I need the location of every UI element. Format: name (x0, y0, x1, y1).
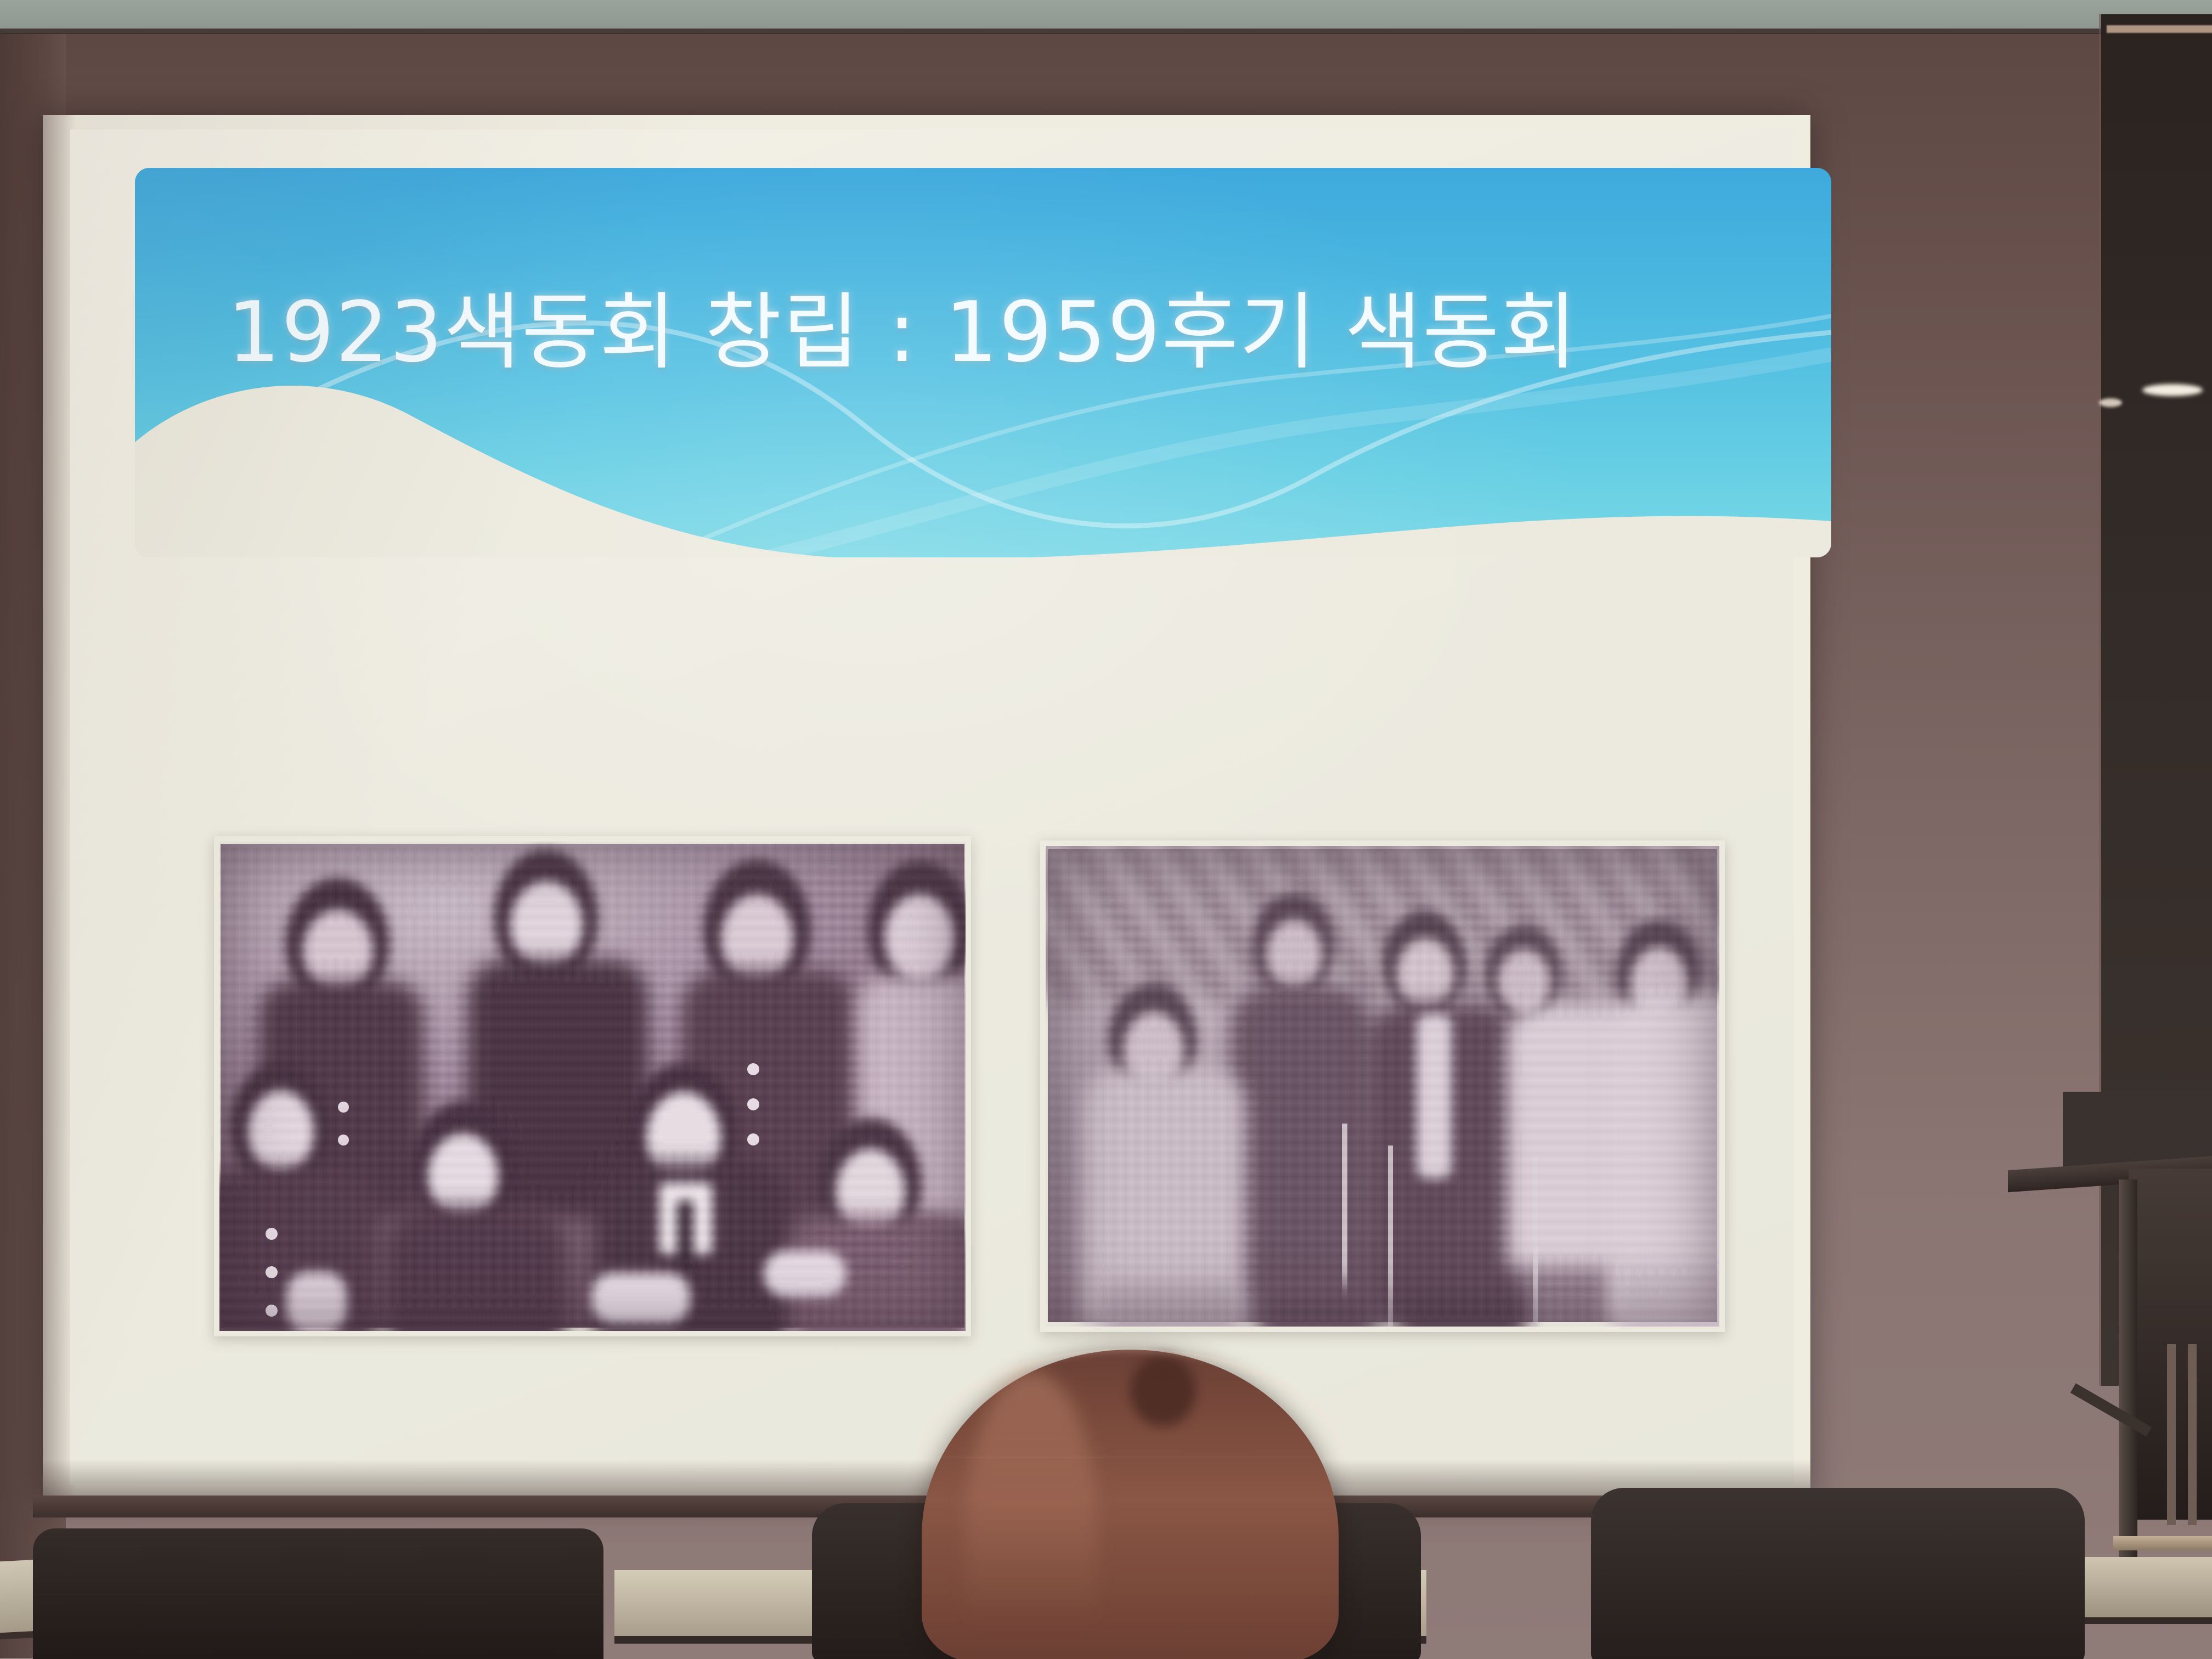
lectern-slat (2167, 1344, 2176, 1525)
slide-title-banner: 1923색동회 창립 : 1959후기 색동회 (135, 168, 1831, 557)
lectern-shelf (2113, 1536, 2212, 1550)
chair-left (33, 1528, 603, 1659)
ceiling-light-glow (2142, 384, 2203, 396)
screenshot-root: 1923색동회 창립 : 1959후기 색동회 (0, 0, 2212, 1659)
photo-right-border (1040, 840, 1725, 1332)
photo-left-border (214, 836, 971, 1336)
lectern-post (2119, 1180, 2137, 1564)
slide-photo-right (1040, 840, 1725, 1332)
lectern-slat (2188, 1344, 2197, 1525)
page-title: 1923색동회 창립 : 1959후기 색동회 (227, 287, 1818, 377)
chair-right (1591, 1488, 2085, 1659)
column-top-trim (2107, 25, 2212, 33)
slide-photo-left (214, 836, 971, 1336)
ceiling (0, 0, 2212, 33)
presentation-slide: 1923색동회 창립 : 1959후기 색동회 (70, 129, 1794, 1485)
ceiling-light-glow-secondary (2099, 398, 2122, 407)
banner-wave-shape (135, 377, 1831, 557)
